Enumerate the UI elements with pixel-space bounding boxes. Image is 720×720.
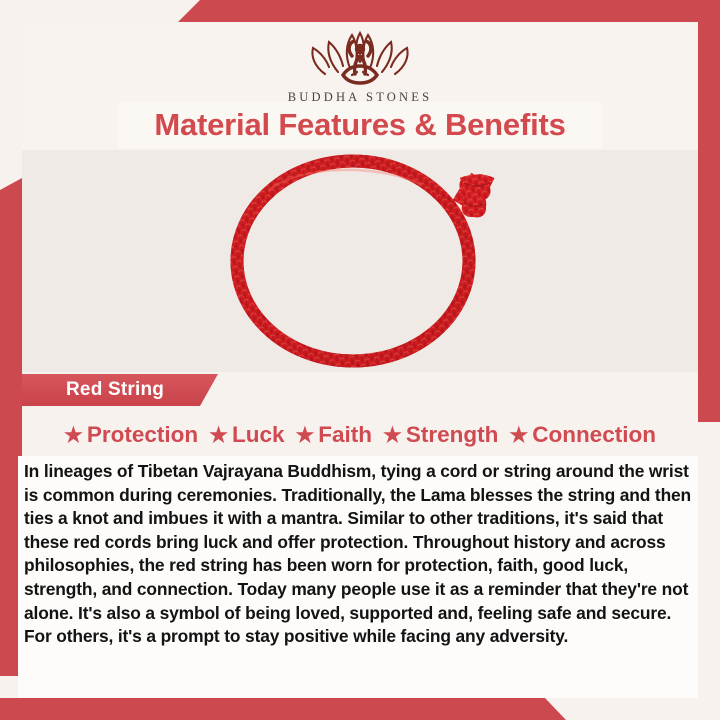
product-label-text: Red String xyxy=(66,379,164,401)
lotus-meditating-figure-icon xyxy=(295,28,425,88)
benefit-label: Connection xyxy=(532,422,656,448)
benefits-row: ★ Protection ★ Luck ★ Faith ★ Strength ★… xyxy=(22,414,698,456)
benefit-label: Protection xyxy=(87,422,198,448)
infographic-page: BUDDHA STONES Material Features & Benefi… xyxy=(0,0,720,720)
benefit-connection: ★ Connection xyxy=(509,422,656,448)
page-title: Material Features & Benefits xyxy=(154,107,565,143)
title-band: Material Features & Benefits xyxy=(118,102,602,148)
header: BUDDHA STONES Material Features & Benefi… xyxy=(22,22,698,150)
frame-left-bar xyxy=(0,178,22,393)
star-icon: ★ xyxy=(209,425,228,446)
star-icon: ★ xyxy=(509,425,528,446)
description-text: In lineages of Tibetan Vajrayana Buddhis… xyxy=(24,460,692,649)
benefit-faith: ★ Faith xyxy=(295,422,372,448)
star-icon: ★ xyxy=(295,425,314,446)
product-image xyxy=(22,150,698,372)
description-panel: In lineages of Tibetan Vajrayana Buddhis… xyxy=(18,456,698,698)
frame-bottom-bar xyxy=(0,698,720,720)
star-icon: ★ xyxy=(64,425,83,446)
benefit-strength: ★ Strength xyxy=(383,422,498,448)
benefit-label: Luck xyxy=(232,422,285,448)
benefit-label: Faith xyxy=(318,422,372,448)
frame-top-bar xyxy=(0,0,720,22)
red-braided-bracelet-illustration xyxy=(210,153,510,369)
star-icon: ★ xyxy=(383,425,402,446)
product-label-banner: Red String xyxy=(22,374,218,406)
benefit-luck: ★ Luck xyxy=(209,422,284,448)
benefit-label: Strength xyxy=(406,422,499,448)
brand-logo: BUDDHA STONES xyxy=(22,22,698,108)
benefit-protection: ★ Protection xyxy=(64,422,198,448)
frame-right-bar xyxy=(698,22,720,422)
